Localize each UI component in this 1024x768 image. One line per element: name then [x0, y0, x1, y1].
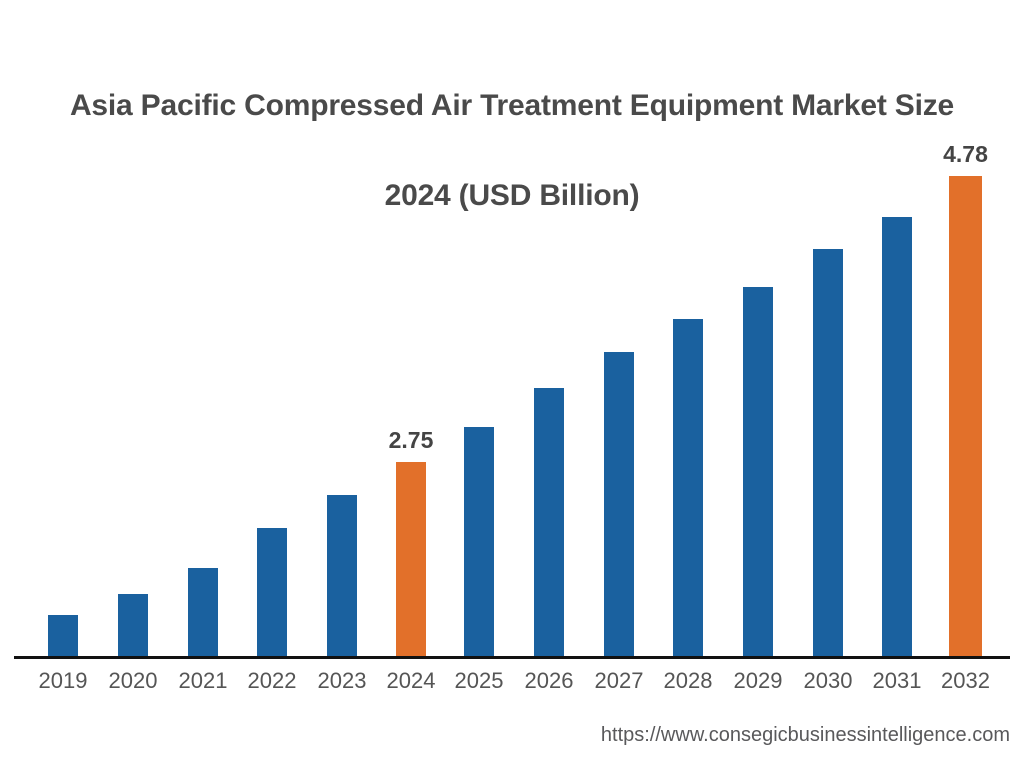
bar-2020[interactable] — [118, 594, 148, 657]
bar-2032[interactable] — [949, 176, 982, 657]
chart-container: Asia Pacific Compressed Air Treatment Eq… — [0, 0, 1024, 768]
bar-2021[interactable] — [188, 568, 218, 657]
bar-2031[interactable] — [882, 217, 912, 657]
bar-2022[interactable] — [257, 528, 287, 657]
plot-area: 2.754.78 — [0, 0, 1024, 768]
x-axis-line — [14, 656, 1010, 659]
bar-2025[interactable] — [464, 427, 494, 657]
x-tick-2032: 2032 — [921, 668, 1011, 694]
bar-2028[interactable] — [673, 319, 703, 657]
bar-value-label-2024: 2.75 — [351, 427, 471, 454]
bar-2026[interactable] — [534, 388, 564, 657]
bar-2029[interactable] — [743, 287, 773, 657]
bar-2023[interactable] — [327, 495, 357, 657]
bar-2030[interactable] — [813, 249, 843, 657]
bar-value-label-2032: 4.78 — [906, 141, 1024, 168]
bar-2019[interactable] — [48, 615, 78, 657]
source-url[interactable]: https://www.consegicbusinessintelligence… — [601, 724, 1010, 747]
bar-2027[interactable] — [604, 352, 634, 657]
bar-2024[interactable] — [396, 462, 426, 657]
